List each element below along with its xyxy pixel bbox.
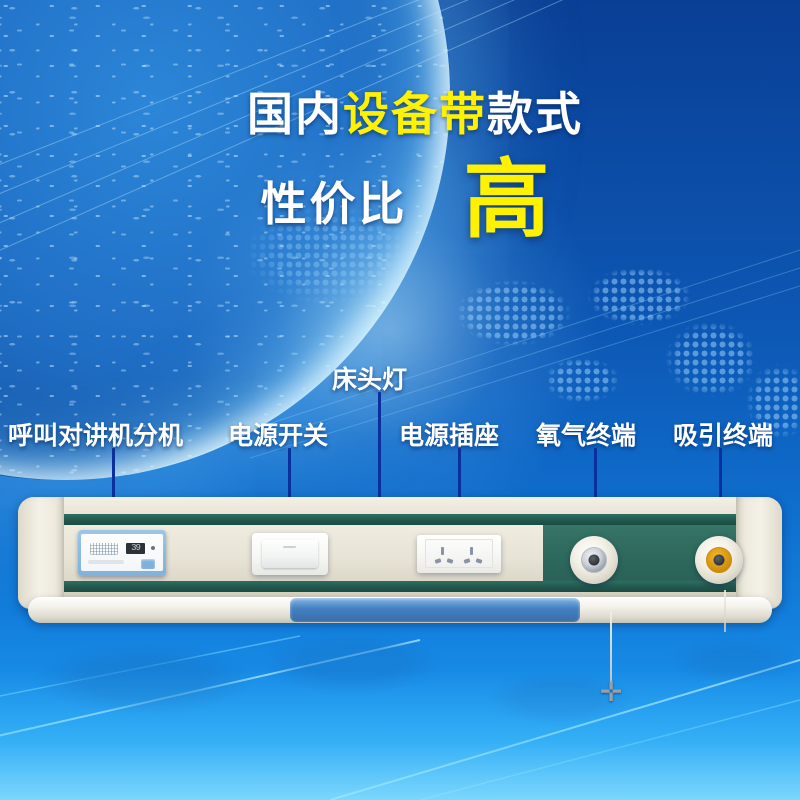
headline-part-1: 国内 <box>247 88 343 140</box>
socket-pin-b <box>447 558 454 564</box>
oxygen-terminal-port <box>589 555 600 566</box>
headline-part-3: 款式 <box>487 88 583 140</box>
callout-label-intercom: 呼叫对讲机分机 <box>8 416 183 452</box>
oxygen-terminal-core <box>581 547 607 573</box>
oxygen-terminal[interactable] <box>570 536 618 584</box>
panel-stripe-top <box>64 514 736 525</box>
power-switch-plate[interactable] <box>252 533 328 575</box>
socket-pin-d <box>476 558 483 564</box>
pull-cord-line-secondary <box>724 590 726 632</box>
promo-image-canvas: 国内设备带款式 性价比 高 呼叫对讲机分机电源开关床头灯电源插座氧气终端吸引终端… <box>0 0 800 800</box>
speaker-grille-icon <box>90 543 118 555</box>
panel-end-cap-left <box>18 497 64 609</box>
headline-line-1: 国内设备带款式 <box>0 88 800 141</box>
headline-line-2: 性价比 <box>261 168 408 234</box>
pull-cord-weight-icon[interactable]: ✛ <box>597 678 625 706</box>
headline-block: 国内设备带款式 <box>0 88 800 141</box>
callout-label-suction: 吸引终端 <box>673 416 773 452</box>
intercom-face: 39 <box>81 534 163 571</box>
headline-emphasis-char: 高 <box>464 160 550 242</box>
intercom-display: 39 <box>126 543 145 554</box>
nurse-call-intercom-unit[interactable]: 39 <box>78 530 166 576</box>
headline-line-2-row: 性价比 高 <box>0 160 800 242</box>
intercom-label-strip <box>88 560 124 564</box>
pull-cord-line[interactable] <box>610 612 612 684</box>
status-led-icon <box>151 546 155 550</box>
callout-label-oxygen: 氧气终端 <box>536 416 636 452</box>
socket-pin-c <box>464 558 471 564</box>
suction-terminal[interactable] <box>695 536 743 584</box>
callout-label-bedlamp: 床头灯 <box>332 360 407 396</box>
suction-terminal-core <box>706 547 732 573</box>
socket-pin-a <box>435 558 442 564</box>
socket-inner-face <box>425 539 493 568</box>
headline-part-2: 设备带 <box>343 88 487 140</box>
power-socket-plate[interactable] <box>417 535 501 573</box>
intercom-call-button[interactable] <box>141 559 155 569</box>
suction-terminal-port <box>714 555 725 566</box>
panel-stripe-bottom <box>64 581 736 592</box>
socket-pin-left-vertical <box>441 547 444 555</box>
panel-rail-blue-sleeve <box>290 598 580 622</box>
panel-end-cap-right <box>736 497 782 609</box>
bottom-light-glow <box>0 670 800 800</box>
socket-pin-right-vertical <box>470 547 473 555</box>
callout-label-socket: 电源插座 <box>399 416 499 452</box>
rocker-switch[interactable] <box>262 540 318 568</box>
callout-label-switch: 电源开关 <box>228 416 328 452</box>
